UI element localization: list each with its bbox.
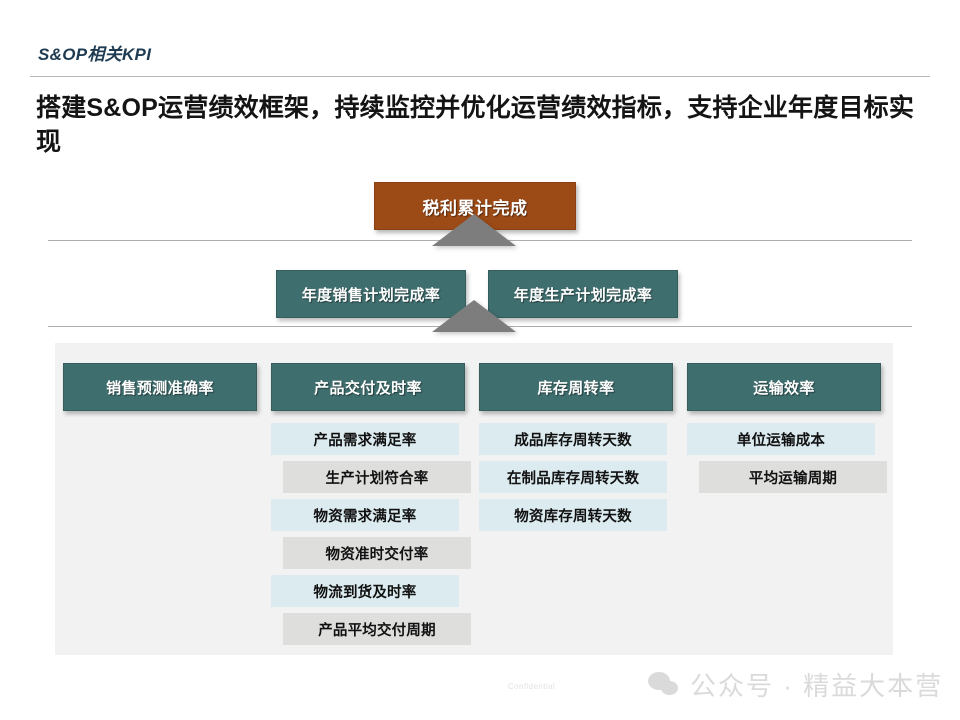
kpi-column-header-label: 销售预测准确率 [106,377,214,398]
kpi-column-inventory-turnover: 库存周转率 成品库存周转天数 在制品库存周转天数 物资库存周转天数 [479,363,673,537]
kpi-column-header[interactable]: 产品交付及时率 [271,363,465,411]
kpi-sub-item[interactable]: 物资库存周转天数 [479,499,667,531]
kpi-column-transport-efficiency: 运输效率 单位运输成本 平均运输周期 [687,363,881,499]
up-arrow-icon [432,214,516,246]
kpi-sub-item[interactable]: 单位运输成本 [687,423,875,455]
kpi-sub-item-label: 平均运输周期 [749,467,837,488]
kpi-sub-item-label: 物资准时交付率 [326,543,429,564]
watermark-label: 公众号 · 精益大本营 [690,666,943,703]
kpi-sub-item-label: 单位运输成本 [737,429,825,450]
kpi-sub-item-list: 产品需求满足率 生产计划符合率 物资需求满足率 物资准时交付率 物流到货及时率 … [271,423,465,645]
kpi-column-header[interactable]: 销售预测准确率 [63,363,257,411]
kpi-sub-item[interactable]: 生产计划符合率 [283,461,471,493]
page-title: 搭建S&OP运营绩效框架，持续监控并优化运营绩效指标，支持企业年度目标实现 [36,92,916,160]
kpi-node-label: 年度生产计划完成率 [514,284,653,305]
kpi-column-header[interactable]: 运输效率 [687,363,881,411]
kpi-sub-item[interactable]: 平均运输周期 [699,461,887,493]
kpi-sub-item[interactable]: 成品库存周转天数 [479,423,667,455]
slide-kicker: S&OP相关KPI [38,40,151,65]
kpi-columns-panel: 销售预测准确率 产品交付及时率 产品需求满足率 生产计划符合率 物资需求满足率 … [55,343,893,655]
kpi-sub-item-label: 生产计划符合率 [326,467,429,488]
kpi-sub-item-label: 产品平均交付周期 [318,619,436,640]
kpi-column-header-label: 库存周转率 [537,377,614,398]
kpi-sub-item-label: 物流到货及时率 [314,581,417,602]
kpi-node-label: 年度销售计划完成率 [302,284,441,305]
kpi-sub-item-list: 成品库存周转天数 在制品库存周转天数 物资库存周转天数 [479,423,673,531]
kpi-sub-item-label: 物资需求满足率 [314,505,417,526]
kpi-sub-item[interactable]: 产品平均交付周期 [283,613,471,645]
wechat-icon [648,672,680,698]
kpi-sub-item-label: 产品需求满足率 [314,429,417,450]
kpi-sub-item[interactable]: 物流到货及时率 [271,575,459,607]
kpi-column-product-delivery: 产品交付及时率 产品需求满足率 生产计划符合率 物资需求满足率 物资准时交付率 … [271,363,465,651]
kpi-sub-item[interactable]: 产品需求满足率 [271,423,459,455]
kpi-pyramid-diagram: 税利累计完成 年度销售计划完成率 年度生产计划完成率 销售预测准确率 产品交付及… [0,168,960,668]
kpi-node-annual-production-plan[interactable]: 年度生产计划完成率 [488,270,678,318]
kpi-column-header-label: 产品交付及时率 [314,377,422,398]
confidential-label: Confidential [508,682,555,691]
kpi-sub-item[interactable]: 物资需求满足率 [271,499,459,531]
kpi-sub-item-label: 成品库存周转天数 [514,429,632,450]
kpi-column-header[interactable]: 库存周转率 [479,363,673,411]
kpi-column-sales-forecast: 销售预测准确率 [63,363,257,423]
watermark: 公众号 · 精益大本营 [648,666,943,703]
kpi-sub-item[interactable]: 物资准时交付率 [283,537,471,569]
kpi-sub-item-label: 物资库存周转天数 [514,505,632,526]
kpi-sub-item-list: 单位运输成本 平均运输周期 [687,423,881,493]
kpi-sub-item-label: 在制品库存周转天数 [507,467,639,488]
kpi-column-header-label: 运输效率 [753,377,815,398]
header-divider [30,76,930,77]
kpi-sub-item[interactable]: 在制品库存周转天数 [479,461,667,493]
up-arrow-icon [432,300,516,332]
slide-header: S&OP相关KPI [0,0,960,78]
